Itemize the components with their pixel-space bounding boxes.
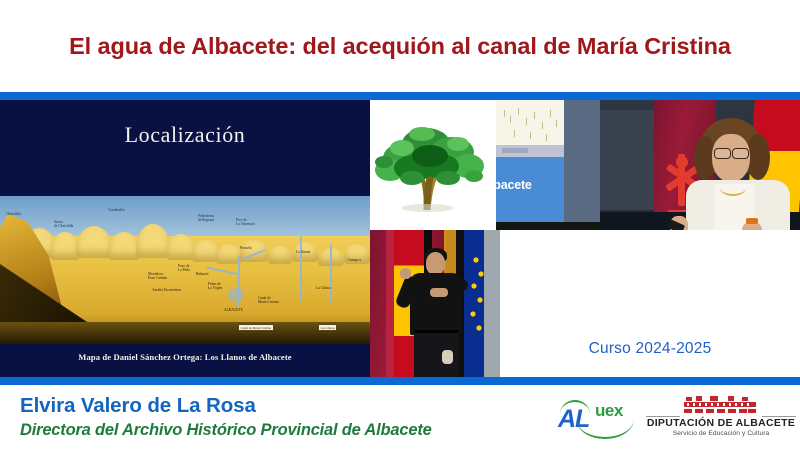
diputacion-subtitle: Servicio de Educación y Cultura [646,430,796,437]
slide-band-accent [502,148,528,153]
speaker-name: Elvira Valero de La Rosa [20,394,256,418]
map-sky [0,196,370,240]
aluex-logo-uex: uex [595,401,623,421]
speaker-role: Directora del Archivo Histórico Provinci… [20,421,432,440]
slide-background [496,100,564,148]
logo-group: AL uex [552,390,796,446]
board-edge [496,222,600,230]
map-panel: Localización [0,100,370,377]
tree-image-panel [370,100,496,230]
aluex-swoosh-bottom-icon [576,419,634,439]
collage-bottom-rule [0,377,800,385]
eu-flag-stars-icon [466,252,486,342]
aluex-logo[interactable]: AL uex [552,397,640,439]
interpreter-photo-panel [370,230,500,377]
projection-screen-panel: lbacete [496,100,600,230]
map-illustration: Chinchilla Sierrade Chinchilla Corralrub… [0,196,370,344]
collage-inner: Localización [0,100,800,377]
diputacion-logo[interactable]: DIPUTACIÓN DE ALBACETE Servicio de Educa… [646,395,796,441]
collage-top-rule [0,92,800,100]
tree-icon [374,114,492,218]
slide-title-bar: El agua de Albacete: del acequión al can… [0,24,800,68]
diputacion-building-icon [684,396,756,414]
slide-word: lbacete [496,178,532,192]
course-year: Curso 2024-2025 [500,340,800,358]
map-caption: Mapa de Daniel Sánchez Ortega: Los Llano… [0,352,370,362]
image-collage: Localización [0,92,800,385]
slide-footer: Elvira Valero de La Rosa Directora del A… [0,385,800,450]
map-heading: Localización [0,122,370,148]
wall-surface [564,100,600,222]
presentation-slide: El agua de Albacete: del acequión al can… [0,0,800,450]
projected-slide: lbacete [496,100,564,222]
slide-title: El agua de Albacete: del acequión al can… [69,33,731,60]
diputacion-name: DIPUTACIÓN DE ALBACETE [646,417,796,429]
map-foot [0,322,370,344]
